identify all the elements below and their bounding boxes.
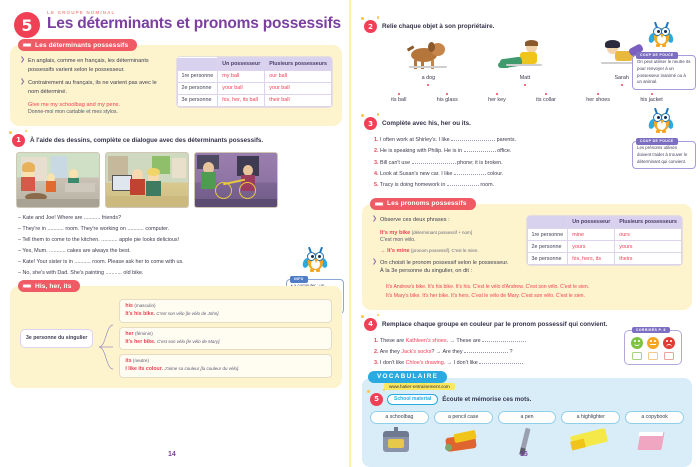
table-row: 3e personne his, her, its ball their bal…: [177, 94, 331, 106]
exercise-2-objects: its ball his glass her key its collar he…: [376, 90, 678, 103]
illustration-kitchen: [16, 152, 100, 208]
pencil-case-icon: [434, 424, 493, 458]
info-bubble-label: INFO: [290, 276, 308, 283]
exercise-2-owners: a dog Matt Sarah: [380, 38, 670, 86]
page-title: Les déterminants et pronoms possessifs: [47, 16, 341, 33]
lesson-example-en: Give me my schoolbag and my pens.: [28, 101, 169, 109]
branch-word: her: [125, 331, 133, 337]
connector-dot[interactable]: [496, 93, 498, 95]
branch-word: its: [125, 358, 131, 364]
table-corner: [527, 216, 568, 229]
hint-bubble-text: On peut utiliser le neutre its pour renv…: [637, 59, 691, 86]
exercise-4-number: 4: [364, 318, 377, 331]
table-cell-single: mine: [568, 229, 615, 241]
page-number-left: 14: [168, 451, 176, 458]
pronoms-table: Un possesseur Plusieurs possesseurs 1re …: [527, 216, 682, 266]
connector-dot[interactable]: [621, 84, 623, 86]
vocabulary-card-pencil-case[interactable]: a pencil case: [434, 411, 493, 458]
lesson-panel-pronoms: Les pronoms possessifs ❯ Observe ces deu…: [362, 204, 692, 310]
owl-mascot-icon: [646, 22, 676, 50]
vocabulary-word-label: a schoolbag: [370, 411, 429, 424]
lesson-bullet: ❯ Contrairement au français, ils ne vari…: [20, 79, 169, 96]
table-cell-single: his, hers, its: [568, 253, 615, 265]
exercise-1-number: 1: [12, 134, 25, 147]
branch-example-en: I like its colour.: [125, 366, 162, 372]
lesson-text-determinants: ❯ En anglais, comme en français, les dét…: [20, 57, 169, 117]
table-row: 1re personne my ball our ball: [177, 70, 331, 82]
table-corner: [177, 58, 218, 71]
vocabulary-word-label: a pen: [498, 411, 557, 424]
illustration-computer-room: [105, 152, 189, 208]
exercise-5-instruction: Écoute et mémorise ces mots.: [442, 396, 531, 403]
page-number-right: 15: [520, 451, 528, 458]
bullet-marker-icon: ❯: [20, 57, 25, 74]
connector-dot[interactable]: [427, 84, 429, 86]
object-item[interactable]: her key: [488, 90, 506, 103]
corriges-label: CORRIGÉS P. 6: [632, 327, 670, 333]
connector-dot[interactable]: [545, 93, 547, 95]
table-header-single: Un possesseur: [218, 58, 265, 71]
tree-branch-his: his (masculin) It's his bike. C'est son …: [119, 299, 332, 323]
hint-bubble-1: COUP DE POUCE On peut utiliser le neutre…: [632, 55, 696, 90]
coup-de-pouce-box-2: COUP DE POUCE Les prénoms utilisés doive…: [632, 108, 696, 169]
owl-mascot-icon: [646, 108, 676, 136]
table-cell-plural: yours: [615, 241, 682, 253]
pronoun-rule-line-1: It's Andrew's bike. It's his bike. It's …: [386, 284, 682, 291]
exercise-4-instruction: Remplace chaque groupe en couleur par le…: [382, 321, 607, 328]
smiley-neutral-icon[interactable]: [647, 337, 659, 349]
hint-bubble-text: Les prénoms utilisés doivent t'aider à t…: [637, 145, 691, 165]
table-cell-plural: ours: [615, 229, 682, 241]
owner-label: Matt: [492, 75, 558, 81]
vocabulary-word-label: a copybook: [625, 411, 684, 424]
exercise-2-instruction: Relie chaque objet à son propriétaire.: [382, 23, 494, 30]
vocabulary-word-label: a pencil case: [434, 411, 493, 424]
object-item[interactable]: his glass: [437, 90, 458, 103]
table-cell-plural: our ball: [265, 70, 332, 82]
self-assessment-checkbox-sad[interactable]: [664, 352, 674, 360]
owner-item-dog[interactable]: a dog: [395, 38, 461, 86]
vocabulary-url[interactable]: www.hatier-entrainement.com: [384, 383, 455, 390]
lesson-bullet-text: Observe ces deux phrases :: [380, 216, 450, 225]
dialogue-line: – Kate and Joe! Where are ........... fr…: [18, 213, 342, 224]
table-cell-person: 2e personne: [527, 241, 568, 253]
lesson-bullet: ❯ En anglais, comme en français, les dét…: [20, 57, 169, 74]
owner-label: a dog: [395, 75, 461, 81]
bullet-marker-icon: ❯: [372, 259, 377, 276]
table-header-plural: Plusieurs possesseurs: [615, 216, 682, 229]
object-item[interactable]: its collar: [536, 90, 556, 103]
table-cell-plural: theirs: [615, 253, 682, 265]
lesson-tag-determinants: Les déterminants possessifs: [18, 39, 137, 51]
lesson-text-pronoms: ❯ Observe ces deux phrases : It's my bik…: [372, 216, 519, 281]
table-cell-person: 1re personne: [527, 229, 568, 241]
lesson-tag-pronoms: Les pronoms possessifs: [370, 198, 476, 210]
vocabulary-topic-chip: School material: [387, 394, 438, 405]
hint-bubble-label: COUP DE POUCE: [636, 52, 678, 59]
table-cell-single: your ball: [218, 82, 265, 94]
branch-word: his: [125, 303, 133, 309]
vocabulary-card-highlighter[interactable]: a highlighter: [561, 411, 620, 458]
pronoun-example-1-fr: C'est mon vélo.: [380, 237, 519, 245]
branch-example-fr: C'est son vélo [le vélo de John].: [156, 311, 219, 316]
exercise-item: 4. Look at Susan's new car. I like colou…: [374, 169, 692, 180]
exercise-5-header: 5 School material Écoute et mémorise ces…: [370, 393, 684, 406]
table-cell-plural: your ball: [265, 82, 332, 94]
connector-dot[interactable]: [597, 93, 599, 95]
chapter-number-badge: 5: [14, 12, 40, 38]
table-cell-plural: their ball: [265, 94, 332, 106]
hint-bubble-label: COUP DE POUCE: [636, 138, 678, 145]
table-row: 3e personne his, hers, its theirs: [527, 253, 681, 265]
connector-dot[interactable]: [446, 93, 448, 95]
table-cell-single: my ball: [218, 70, 265, 82]
self-assessment-checkbox-happy[interactable]: [632, 352, 642, 360]
smiley-sad-icon[interactable]: [663, 337, 675, 349]
coup-de-pouce-box-1: COUP DE POUCE On peut utiliser le neutre…: [632, 22, 696, 90]
exercise-1-instruction: À l'aide des dessins, complète ce dialog…: [30, 137, 263, 144]
table-cell-person: 3e personne: [177, 94, 218, 106]
pronoun-example-1: It's my bike [déterminant possessif + no…: [380, 229, 519, 237]
owl-mascot-icon: [300, 247, 330, 275]
object-item[interactable]: its ball: [391, 90, 406, 103]
determinants-table: Un possesseur Plusieurs possesseurs 1re …: [177, 57, 332, 107]
object-item[interactable]: her shoes: [586, 90, 610, 103]
exercise-3-instruction: Complète avec his, her ou its.: [382, 120, 471, 127]
copybook-icon: [625, 424, 684, 458]
lesson-tag-his-her-its: His, her, its: [18, 280, 80, 292]
exercise-5-number: 5: [370, 393, 383, 406]
table-header-single: Un possesseur: [568, 216, 615, 229]
vocabulary-card-schoolbag[interactable]: a schoolbag: [370, 411, 429, 458]
exercise-item: 5. Tracy is doing homework in room.: [374, 180, 692, 191]
dog-illustration-icon: [395, 38, 461, 74]
table-cell-person: 1re personne: [177, 70, 218, 82]
tree-branch-its: its (neutre) I like its colour. J'aime s…: [119, 354, 332, 378]
lesson-example-fr: Donne-moi mon cartable et mes stylos.: [28, 109, 169, 117]
connector-dot[interactable]: [524, 84, 526, 86]
table-cell-single: his, her, its ball: [218, 94, 265, 106]
dialogue-line: – They're in ........... room. They're w…: [18, 224, 342, 235]
connector-dot[interactable]: [398, 93, 400, 95]
bullet-marker-icon: ❯: [372, 216, 377, 225]
table-header-plural: Plusieurs possesseurs: [265, 58, 332, 71]
schoolbag-icon: [370, 424, 429, 458]
vocabulary-word-label: a highlighter: [561, 411, 620, 424]
tree-branch-her: her (féminin) It's her bike. C'est son v…: [119, 327, 332, 351]
smiley-happy-icon[interactable]: [631, 337, 643, 349]
branch-example-fr: C'est son vélo [le vélo de Mary].: [157, 339, 221, 344]
lesson-bullet-text: Contrairement au français, ils ne varien…: [28, 79, 168, 96]
lesson-panel-his-her-its: His, her, its 3e personne du singulier h…: [10, 286, 342, 388]
table-row: 1re personne mine ours: [527, 229, 681, 241]
connector-dot[interactable]: [651, 93, 653, 95]
pronoun-example-2: → It's mine [pronom possessif]. C'est le…: [380, 247, 519, 255]
branch-gender: (masculin): [134, 303, 155, 308]
exercise-1-header: 1 À l'aide des dessins, complète ce dial…: [12, 134, 342, 147]
determinants-table-wrap: Un possesseur Plusieurs possesseurs 1re …: [177, 57, 332, 117]
vocabulary-card-copybook[interactable]: a copybook: [625, 411, 684, 458]
branch-example-en: It's her bike.: [125, 339, 155, 345]
branch-gender: (neutre): [133, 358, 149, 363]
branch-example-fr: J'aime sa couleur [la couleur du vélo].: [164, 366, 239, 371]
highlighter-icon: [561, 424, 620, 458]
lesson-bullet-text: En anglais, comme en français, les déter…: [28, 57, 168, 74]
left-page: 5 LE GROUPE NOMINAL Les déterminants et …: [0, 0, 350, 467]
table-cell-single: yours: [568, 241, 615, 253]
boy-illustration-icon: [492, 38, 558, 74]
table-cell-person: 2e personne: [177, 82, 218, 94]
pronoms-table-wrap: Un possesseur Plusieurs possesseurs 1re …: [527, 216, 682, 281]
lesson-bullet: ❯ Observe ces deux phrases :: [372, 216, 519, 225]
right-page: 2 Relie chaque objet à son propriétaire.…: [350, 0, 700, 467]
illustration-garage-bike: [194, 152, 278, 208]
branch-example-en: It's his bike.: [125, 311, 155, 317]
self-assessment-checkbox-neutral[interactable]: [648, 352, 658, 360]
table-row: 2e personne your ball your ball: [177, 82, 331, 94]
table-cell-person: 3e personne: [527, 253, 568, 265]
branch-gender: (féminin): [135, 331, 153, 336]
tree-node-third-person: 3e personne du singulier: [20, 329, 93, 349]
exercise-3-number: 3: [364, 117, 377, 130]
bullet-marker-icon: ❯: [20, 79, 25, 96]
lesson-panel-determinants: Les déterminants possessifs ❯ En anglais…: [10, 45, 342, 126]
object-item[interactable]: his jacket: [640, 90, 662, 103]
table-row: 2e personne yours yours: [527, 241, 681, 253]
hint-bubble-2: COUP DE POUCE Les prénoms utilisés doive…: [632, 141, 696, 169]
lesson-bullet: ❯ On choisit le pronom possessif selon l…: [372, 259, 519, 276]
vocabulary-tag: VOCABULAIRE: [368, 371, 447, 383]
lesson-bullet-text: On choisit le pronom possessif selon le …: [380, 259, 508, 276]
dialogue-line: – Tell them to come to the kitchen. ....…: [18, 235, 342, 246]
corriges-box: CORRIGÉS P. 6: [624, 330, 682, 365]
owner-item-matt[interactable]: Matt: [492, 38, 558, 86]
exercise-2-number: 2: [364, 20, 377, 33]
chapter-header: 5 LE GROUPE NOMINAL Les déterminants et …: [14, 10, 342, 38]
dialogue-illustrations: [16, 152, 342, 208]
pronoun-rule-line-2: It's Mary's bike. It's her bike. It's he…: [386, 293, 682, 300]
